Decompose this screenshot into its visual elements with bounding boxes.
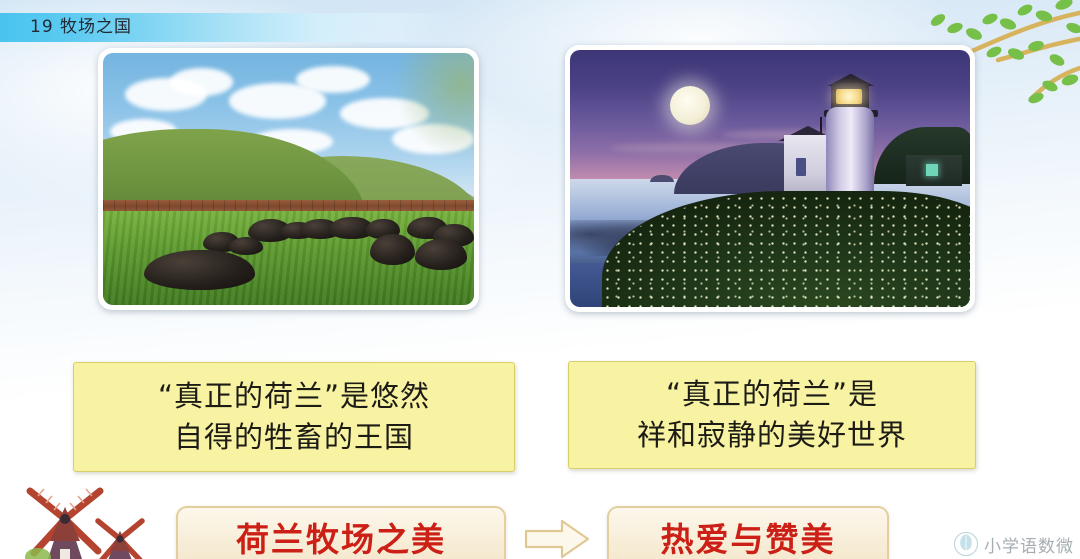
cloud xyxy=(170,68,233,96)
outbuilding-window xyxy=(926,164,938,176)
cloud xyxy=(296,66,370,94)
pig-foreground xyxy=(144,250,255,290)
pig xyxy=(229,237,262,255)
conclusion-source-box[interactable]: 荷兰牧场之美 xyxy=(176,506,506,559)
page-title: 19 牧场之国 xyxy=(30,14,132,41)
flow-arrow xyxy=(522,518,592,559)
leaf-circle-logo-icon xyxy=(953,531,979,557)
right-arrow-icon xyxy=(522,518,592,559)
pasture-photo-inner xyxy=(103,53,474,305)
windmill-icon xyxy=(8,479,160,559)
keeper-window xyxy=(796,158,806,176)
statement-right[interactable]: “真正的荷兰”是 祥和寂静的美好世界 xyxy=(568,361,976,469)
pig xyxy=(415,239,467,269)
background-tree xyxy=(385,53,474,169)
lighthouse-lamp xyxy=(836,89,862,104)
windmill-decoration xyxy=(8,479,160,559)
pasture-photo[interactable] xyxy=(98,48,479,310)
lighthouse-photo[interactable] xyxy=(565,45,975,312)
lighthouse-photo-inner xyxy=(570,50,970,307)
statement-left-line-1: “真正的荷兰”是悠然 xyxy=(158,376,430,417)
statement-left-line-2: 自得的牲畜的王国 xyxy=(174,417,414,458)
statement-left[interactable]: “真正的荷兰”是悠然 自得的牲畜的王国 xyxy=(73,362,515,472)
watermark-text: 小学语数微 xyxy=(984,537,1074,557)
slide-canvas: 19 牧场之国 xyxy=(0,0,1080,559)
pig xyxy=(370,234,415,264)
conclusion-target-box[interactable]: 热爱与赞美 xyxy=(607,506,889,559)
moon xyxy=(670,86,710,125)
statement-right-line-1: “真正的荷兰”是 xyxy=(666,374,878,415)
statement-right-line-2: 祥和寂静的美好世界 xyxy=(637,415,907,456)
conclusion-target-label: 热爱与赞美 xyxy=(661,522,836,558)
watermark: 小学语数微 xyxy=(953,517,1074,557)
conclusion-source-label: 荷兰牧场之美 xyxy=(236,522,446,558)
